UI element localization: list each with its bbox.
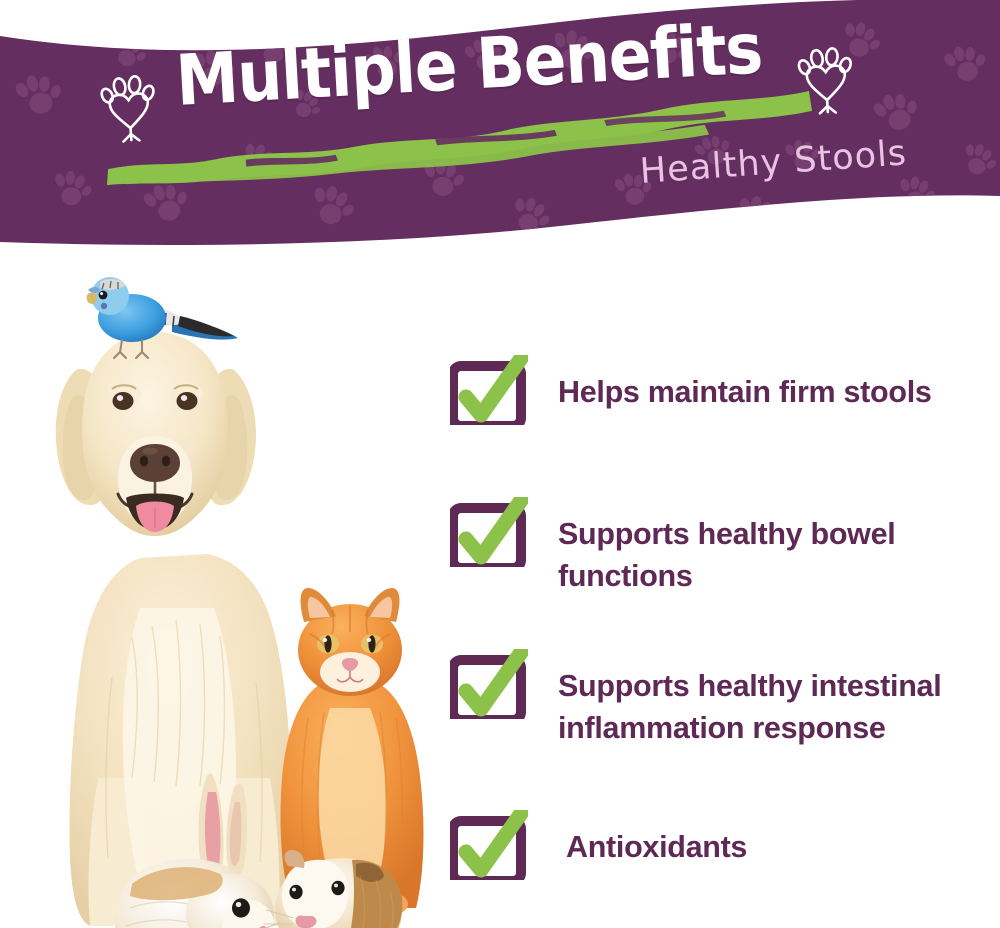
checklist-item[interactable]: Supports healthy intestinal inflammation… bbox=[450, 657, 1000, 749]
checkbox-checked-icon[interactable] bbox=[450, 649, 528, 719]
checkbox-checked-icon[interactable] bbox=[450, 497, 528, 567]
golden-retriever bbox=[56, 332, 292, 926]
checklist-item-label: Helps maintain firm stools bbox=[528, 363, 932, 413]
checkbox-checked-icon[interactable] bbox=[450, 355, 528, 425]
checkbox-checked-icon[interactable] bbox=[450, 810, 528, 880]
benefits-infographic: Multiple Benefits Healthy Stools bbox=[0, 0, 1000, 928]
checklist-item[interactable]: Helps maintain firm stools bbox=[450, 363, 1000, 425]
banner-header: Multiple Benefits Healthy Stools bbox=[0, 0, 1000, 260]
checklist-item-label: Supports healthy bowel functions bbox=[528, 505, 895, 597]
banner-shape bbox=[0, 0, 1000, 260]
pets-illustration bbox=[20, 258, 450, 928]
checkbox-svg bbox=[450, 649, 528, 719]
checklist-item-label: Supports healthy intestinal inflammation… bbox=[528, 657, 941, 749]
pets-photo bbox=[20, 258, 450, 928]
checklist-item[interactable]: Supports healthy bowel functions bbox=[450, 505, 1000, 597]
checkbox-svg bbox=[450, 810, 528, 880]
checklist-item[interactable]: Antioxidants bbox=[450, 818, 1000, 880]
checkbox-svg bbox=[450, 497, 528, 567]
checkbox-svg bbox=[450, 355, 528, 425]
checklist-item-label: Antioxidants bbox=[528, 818, 747, 868]
